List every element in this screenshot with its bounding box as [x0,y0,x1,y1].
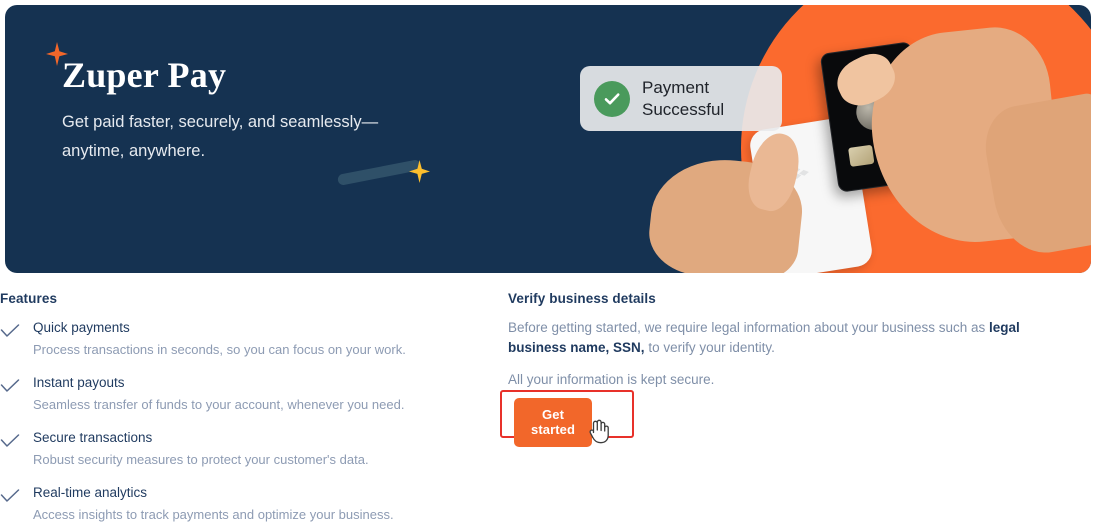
check-icon [0,324,20,343]
payment-status-line1: Payment [642,78,709,97]
check-circle-icon [594,81,630,117]
verify-column: Verify business details Before getting s… [508,291,1038,390]
payment-successful-badge: Payment Successful [580,66,782,131]
check-icon [0,489,20,508]
feature-description: Seamless transfer of funds to your accou… [33,396,404,414]
verify-body-part2: to verify your identity. [645,340,775,355]
hero-subtitle: Get paid faster, securely, and seamlessl… [62,108,422,167]
get-started-button[interactable]: Get started [514,398,592,447]
feature-description: Access insights to track payments and op… [33,506,394,524]
verify-heading: Verify business details [508,291,1038,306]
feature-title: Instant payouts [33,374,404,392]
feature-description: Process transactions in seconds, so you … [33,341,406,359]
payment-status-text: Payment Successful [642,77,724,120]
check-icon [0,434,20,453]
hero-banner: DANIEL MARTIN Zuper Pay Get paid faster,… [5,5,1091,273]
feature-title: Quick payments [33,319,406,337]
payment-status-line2: Successful [642,100,724,119]
hero-photo: DANIEL MARTIN [641,5,1091,273]
features-heading: Features [0,291,470,306]
feature-description: Robust security measures to protect your… [33,451,369,469]
features-list: Quick payments Process transactions in s… [0,319,470,523]
feature-item: Secure transactions Robust security meas… [0,429,470,468]
feature-item: Quick payments Process transactions in s… [0,319,470,358]
verify-security-note: All your information is kept secure. [508,370,1038,390]
features-column: Features Quick payments Process transact… [0,291,470,526]
feature-item: Real-time analytics Access insights to t… [0,484,470,523]
verify-body-text: Before getting started, we require legal… [508,318,1038,357]
feature-item: Instant payouts Seamless transfer of fun… [0,374,470,413]
card-chip-icon [848,145,874,167]
feature-title: Secure transactions [33,429,369,447]
check-icon [0,379,20,398]
feature-title: Real-time analytics [33,484,394,502]
page-title: Zuper Pay [62,57,542,95]
verify-body-part1: Before getting started, we require legal… [508,320,989,335]
hero-text-block: Zuper Pay Get paid faster, securely, and… [62,57,542,167]
page-root: DANIEL MARTIN Zuper Pay Get paid faster,… [0,0,1100,526]
